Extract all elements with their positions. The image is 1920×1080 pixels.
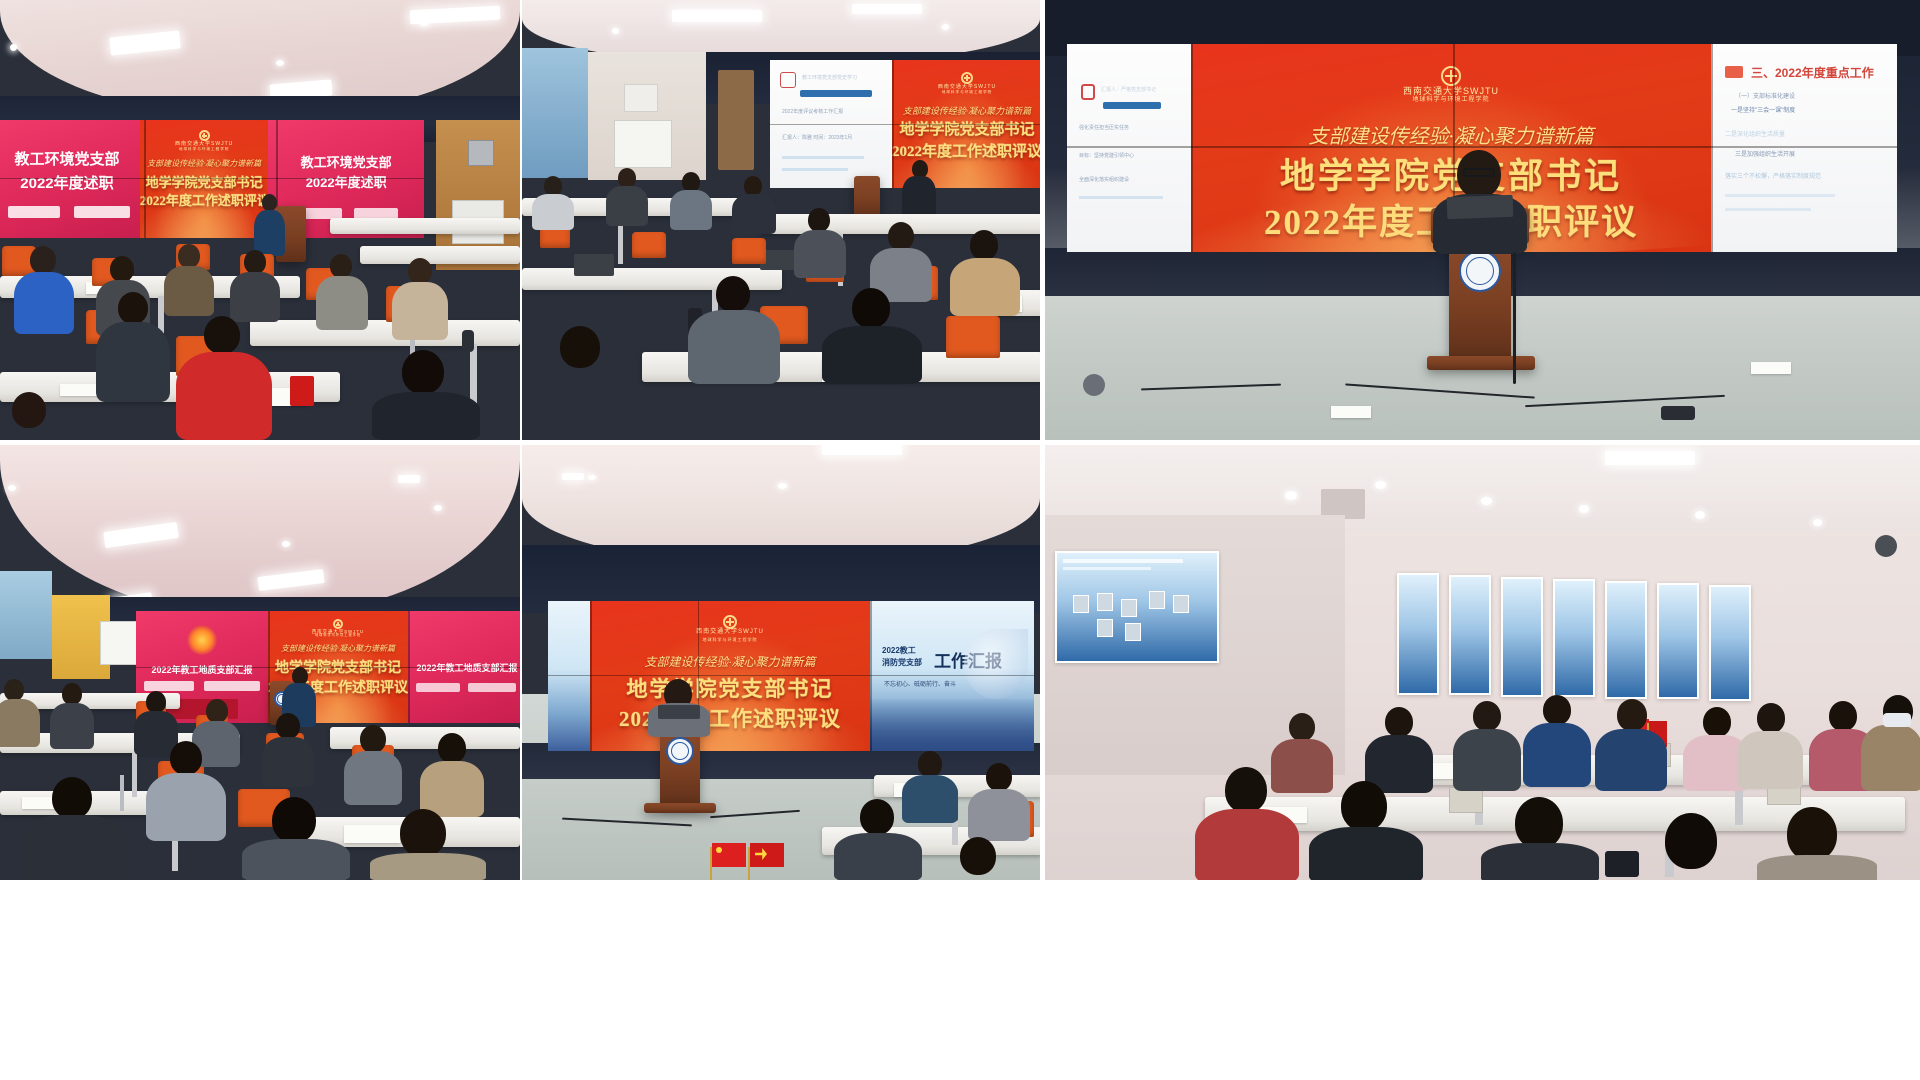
- banner-logo-line-2: 地球科学与环境工程学院: [590, 637, 870, 642]
- whiteboard: [100, 621, 140, 665]
- banner-title-1: 地学学院党支部书记: [590, 673, 870, 703]
- party-emblem-icon: [187, 625, 217, 655]
- video-wall: 教工环境党支部党史学习 2022年度评议考核工作汇报 汇报人：陈雅 时间：202…: [770, 60, 1040, 188]
- slide-line-4: 全面深化落实组织建设: [1079, 176, 1129, 186]
- slide-line-3: 目标：坚持党建引领中心: [1079, 152, 1134, 162]
- wall-banner-3: [1501, 577, 1543, 697]
- banner-script: 支部建设传经验·凝心聚力谱新篇: [1191, 120, 1711, 149]
- slide-heading: 教工环境党支部党史学习: [802, 74, 857, 84]
- glasses-icon: [1463, 168, 1495, 177]
- photo-top-left: 教工环境党支部 2022年度述职 西南交通大学SWJTU 地球科学与环境工程学院…: [0, 0, 520, 440]
- slide-icon: [780, 72, 796, 88]
- screen-right-line-2: 2022年度述职: [274, 172, 418, 191]
- podium-seal: [666, 737, 694, 765]
- wall-poster: [624, 84, 658, 112]
- screen-left-slide: 汇报人：严格党支部书记 强化责任担当压实任务 目标：坚持党建引领中心 全面深化落…: [1067, 44, 1191, 252]
- banner-logo-line-2: 地球科学与环境工程学院: [1191, 97, 1711, 105]
- slide-line-2: 一是坚持"三会一课"制度: [1731, 106, 1795, 117]
- wall-banner-5: [1605, 581, 1647, 699]
- slide-line-1: （一）支部标准化建设: [1735, 92, 1795, 103]
- window: [0, 571, 52, 659]
- slide-icon: [1081, 84, 1095, 100]
- screen-center-banner: 西南交通大学SWJTU 地球科学与环境工程学院 支部建设传经验·凝心聚力谱新篇 …: [590, 601, 870, 751]
- slide-line-1: 2022教工: [882, 645, 916, 656]
- podium: [854, 176, 880, 218]
- phone: [1605, 851, 1639, 877]
- screen-left: 教工环境党支部 2022年度述职: [0, 120, 140, 238]
- video-wall: 2022年教工地质支部汇报 西南交通大学SWJTU 地球科学与环境工程学院 支部…: [136, 611, 520, 723]
- banner-script: 支部建设传经验·凝心聚力谱新篇: [140, 158, 268, 169]
- banner-title-2: 2022年度工作述职评议: [140, 190, 268, 209]
- flag-china: [712, 843, 746, 867]
- collage-emblem-graphic: [964, 629, 1028, 699]
- door: [718, 70, 754, 170]
- photo-collage: 教工环境党支部 2022年度述职 西南交通大学SWJTU 地球科学与环境工程学院…: [0, 0, 1920, 1080]
- screen-right-slide: 三、2022年度重点工作 （一）支部标准化建设 一是坚持"三会一课"制度 二是深…: [1711, 44, 1897, 252]
- screen-center-banner: 西南交通大学SWJTU 地球科学与环境工程学院 支部建设传经验·凝心聚力谱新篇 …: [140, 120, 268, 238]
- laptop: [1447, 195, 1514, 219]
- speaker-head: [262, 194, 277, 211]
- banner-title-1: 地学学院党支部书记: [1191, 148, 1711, 199]
- floor-flags: [704, 837, 784, 880]
- podium-base: [1427, 356, 1535, 370]
- face-mask-icon: [1883, 713, 1911, 727]
- photo-bottom-center: 西南交通大学SWJTU 地球科学与环境工程学院 支部建设传经验·凝心聚力谱新篇 …: [522, 445, 1040, 880]
- photo-top-center: 教工环境党支部党史学习 2022年度评议考核工作汇报 汇报人：陈雅 时间：202…: [522, 0, 1040, 440]
- banner-logo-line-2: 地球科学与环境工程学院: [268, 634, 408, 638]
- slide-line-2: 消防党支部: [882, 657, 922, 668]
- laptop-1: [574, 254, 614, 276]
- wall-banner-1: [1397, 573, 1439, 695]
- banner-script: 支部建设传经验·凝心聚力谱新篇: [590, 653, 870, 670]
- wall-display-board: [1055, 551, 1219, 663]
- window: [522, 48, 588, 178]
- photo-bottom-left: 2022年教工地质支部汇报 西南交通大学SWJTU 地球科学与环境工程学院 支部…: [0, 445, 520, 880]
- video-wall: 西南交通大学SWJTU 地球科学与环境工程学院 支部建设传经验·凝心聚力谱新篇 …: [548, 601, 1034, 751]
- screen-left-title: 2022年教工地质支部汇报: [140, 663, 264, 676]
- slide-line-2: 2022年度评议考核工作汇报: [782, 108, 843, 118]
- screen-far-left: [548, 601, 590, 751]
- banner-logo: 西南交通大学SWJTU 地球科学与环境工程学院: [140, 130, 268, 151]
- banner-logo-line-1: 西南交通大学SWJTU: [1191, 86, 1711, 97]
- podium-base: [644, 803, 716, 813]
- photo-bottom-right: [1045, 445, 1920, 880]
- ceiling: [0, 445, 520, 617]
- slide-motto: 不忘初心、砥砺前行、奋斗: [884, 679, 956, 688]
- banner-title-1: 地学学院党支部书记: [140, 172, 268, 191]
- banner-logo-line-2: 地球科学与环境工程学院: [892, 90, 1040, 94]
- wall-banner-7: [1709, 585, 1751, 701]
- slide-heading: 汇报人：严格党支部书记: [1101, 86, 1156, 96]
- banner-title-2: 2022年度工作述职评议: [590, 703, 870, 733]
- slide-title: 三、2022年度重点工作: [1751, 64, 1874, 81]
- bottle: [462, 330, 474, 352]
- slide-line-5: 落实三个不松懈，严格落实制度规范: [1725, 172, 1821, 183]
- banner-script: 支部建设传经验·凝心聚力谱新篇: [892, 104, 1040, 117]
- screen-left-line-1: 教工环境党支部: [0, 150, 134, 170]
- door-sign: [468, 140, 494, 166]
- wall-banner-6: [1657, 583, 1699, 699]
- security-camera-icon: [1875, 535, 1897, 557]
- wall-banner-2: [1449, 575, 1491, 695]
- podium-seal: [1459, 250, 1501, 292]
- slide-line-3: 二是深化组织生活质量: [1725, 130, 1785, 141]
- wall-banner-4: [1553, 579, 1595, 697]
- slide-line-4: 三是加强组织生活开展: [1735, 150, 1795, 161]
- screen-right-line-1: 教工环境党支部: [274, 152, 418, 171]
- slide-line-2: 强化责任担当压实任务: [1079, 124, 1129, 134]
- flag-party: [750, 843, 784, 867]
- banner-script: 支部建设传经验·凝心聚力谱新篇: [268, 643, 408, 654]
- screen-left-line-2: 2022年度述职: [0, 172, 134, 193]
- slide-line-3: 汇报人：陈雅 时间：2023年1月: [782, 134, 852, 144]
- red-booklet: [290, 376, 314, 406]
- power-brick: [1661, 406, 1695, 420]
- speaker-body: [254, 210, 285, 256]
- screen-right-slide: 2022教工 消防党支部 工作汇报 不忘初心、砥砺前行、奋斗: [870, 601, 1034, 751]
- banner-title-2: 2022年度工作述职评议: [892, 140, 1040, 161]
- banner-title-1: 地学学院党支部书记: [892, 118, 1040, 139]
- floor-stand: [1083, 374, 1105, 396]
- photo-top-right: 汇报人：严格党支部书记 强化责任担当压实任务 目标：坚持党建引领中心 全面深化落…: [1045, 0, 1920, 440]
- whiteboard: [614, 120, 672, 168]
- banner-logo-line-2: 地球科学与环境工程学院: [140, 147, 268, 151]
- banner-logo-line-1: 西南交通大学SWJTU: [590, 629, 870, 637]
- slide-icon: [1725, 66, 1743, 78]
- mountain-graphic: [870, 699, 1034, 751]
